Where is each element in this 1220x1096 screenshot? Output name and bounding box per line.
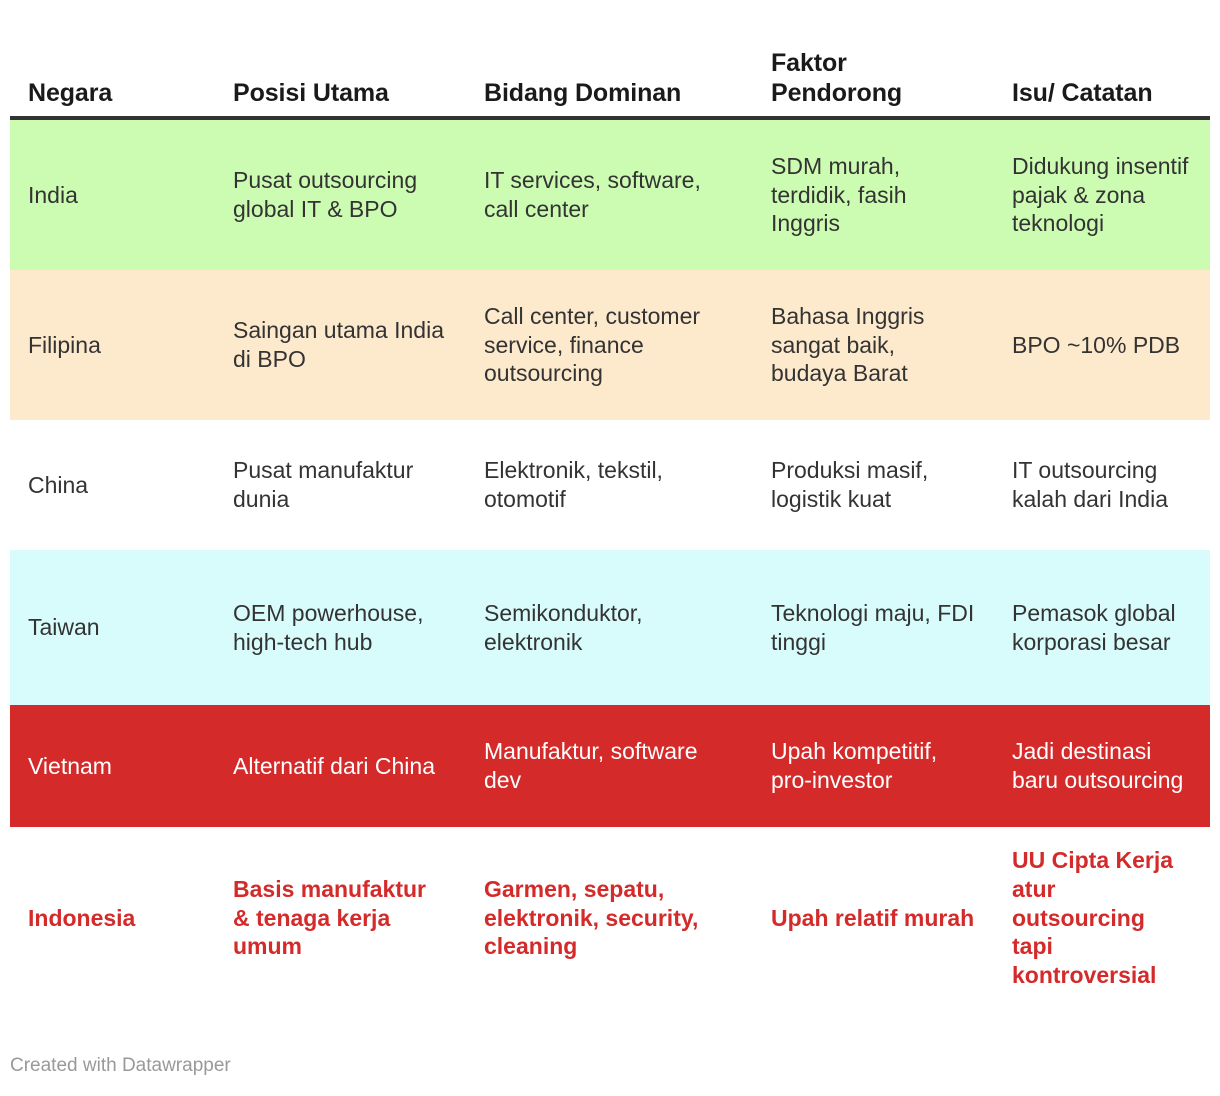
- cell-isu-catatan: Pemasok global korporasi besar: [994, 550, 1210, 705]
- cell-bidang-dominan: Elektronik, tekstil, otomotif: [466, 420, 753, 550]
- cell-posisi-utama: Alternatif dari China: [215, 705, 466, 827]
- cell-negara: Taiwan: [10, 550, 215, 705]
- column-header-negara[interactable]: Negara: [10, 0, 215, 118]
- cell-faktor-pendorong: Teknologi maju, FDI tinggi: [753, 550, 994, 705]
- cell-negara: India: [10, 118, 215, 270]
- cell-bidang-dominan: Garmen, sepatu, elektronik, security, cl…: [466, 827, 753, 1009]
- cell-faktor-pendorong: SDM murah, terdidik, fasih Inggris: [753, 118, 994, 270]
- table-header-row: Negara Posisi Utama Bidang Dominan Fakto…: [10, 0, 1210, 118]
- cell-bidang-dominan: Manufaktur, software dev: [466, 705, 753, 827]
- cell-faktor-pendorong: Upah kompetitif, pro-investor: [753, 705, 994, 827]
- cell-negara: China: [10, 420, 215, 550]
- comparison-table: Negara Posisi Utama Bidang Dominan Fakto…: [10, 0, 1210, 1009]
- cell-isu-catatan: Jadi destinasi baru outsourcing: [994, 705, 1210, 827]
- table-row: Vietnam Alternatif dari China Manufaktur…: [10, 705, 1210, 827]
- cell-posisi-utama: Pusat outsourcing global IT & BPO: [215, 118, 466, 270]
- cell-isu-catatan: UU Cipta Kerja atur outsourcing tapi kon…: [994, 827, 1210, 1009]
- column-header-bidang-dominan[interactable]: Bidang Dominan: [466, 0, 753, 118]
- cell-faktor-pendorong: Upah relatif murah: [753, 827, 994, 1009]
- cell-negara: Vietnam: [10, 705, 215, 827]
- cell-isu-catatan: BPO ~10% PDB: [994, 270, 1210, 420]
- cell-faktor-pendorong: Produksi masif, logistik kuat: [753, 420, 994, 550]
- column-header-isu-catatan[interactable]: Isu/ Catatan: [994, 0, 1210, 118]
- cell-posisi-utama: Saingan utama India di BPO: [215, 270, 466, 420]
- table-row: Indonesia Basis manufaktur & tenaga kerj…: [10, 827, 1210, 1009]
- cell-negara: Indonesia: [10, 827, 215, 1009]
- cell-bidang-dominan: Semikonduktor, elektronik: [466, 550, 753, 705]
- cell-posisi-utama: OEM powerhouse, high-tech hub: [215, 550, 466, 705]
- table-row: Taiwan OEM powerhouse, high-tech hub Sem…: [10, 550, 1210, 705]
- table-body: India Pusat outsourcing global IT & BPO …: [10, 118, 1210, 1009]
- column-header-posisi-utama[interactable]: Posisi Utama: [215, 0, 466, 118]
- table-header: Negara Posisi Utama Bidang Dominan Fakto…: [10, 0, 1210, 118]
- cell-bidang-dominan: Call center, customer service, finance o…: [466, 270, 753, 420]
- datawrapper-table-chart: Negara Posisi Utama Bidang Dominan Fakto…: [0, 0, 1220, 1096]
- cell-isu-catatan: IT outsourcing kalah dari India: [994, 420, 1210, 550]
- table-row: China Pusat manufaktur dunia Elektronik,…: [10, 420, 1210, 550]
- cell-bidang-dominan: IT services, software, call center: [466, 118, 753, 270]
- cell-isu-catatan: Didukung insentif pajak & zona teknologi: [994, 118, 1210, 270]
- table-row: Filipina Saingan utama India di BPO Call…: [10, 270, 1210, 420]
- table-row: India Pusat outsourcing global IT & BPO …: [10, 118, 1210, 270]
- cell-posisi-utama: Basis manufaktur & tenaga kerja umum: [215, 827, 466, 1009]
- cell-negara: Filipina: [10, 270, 215, 420]
- cell-posisi-utama: Pusat manufaktur dunia: [215, 420, 466, 550]
- column-header-faktor-pendorong[interactable]: Faktor Pendorong: [753, 0, 994, 118]
- datawrapper-credit[interactable]: Created with Datawrapper: [10, 1055, 231, 1078]
- cell-faktor-pendorong: Bahasa Inggris sangat baik, budaya Barat: [753, 270, 994, 420]
